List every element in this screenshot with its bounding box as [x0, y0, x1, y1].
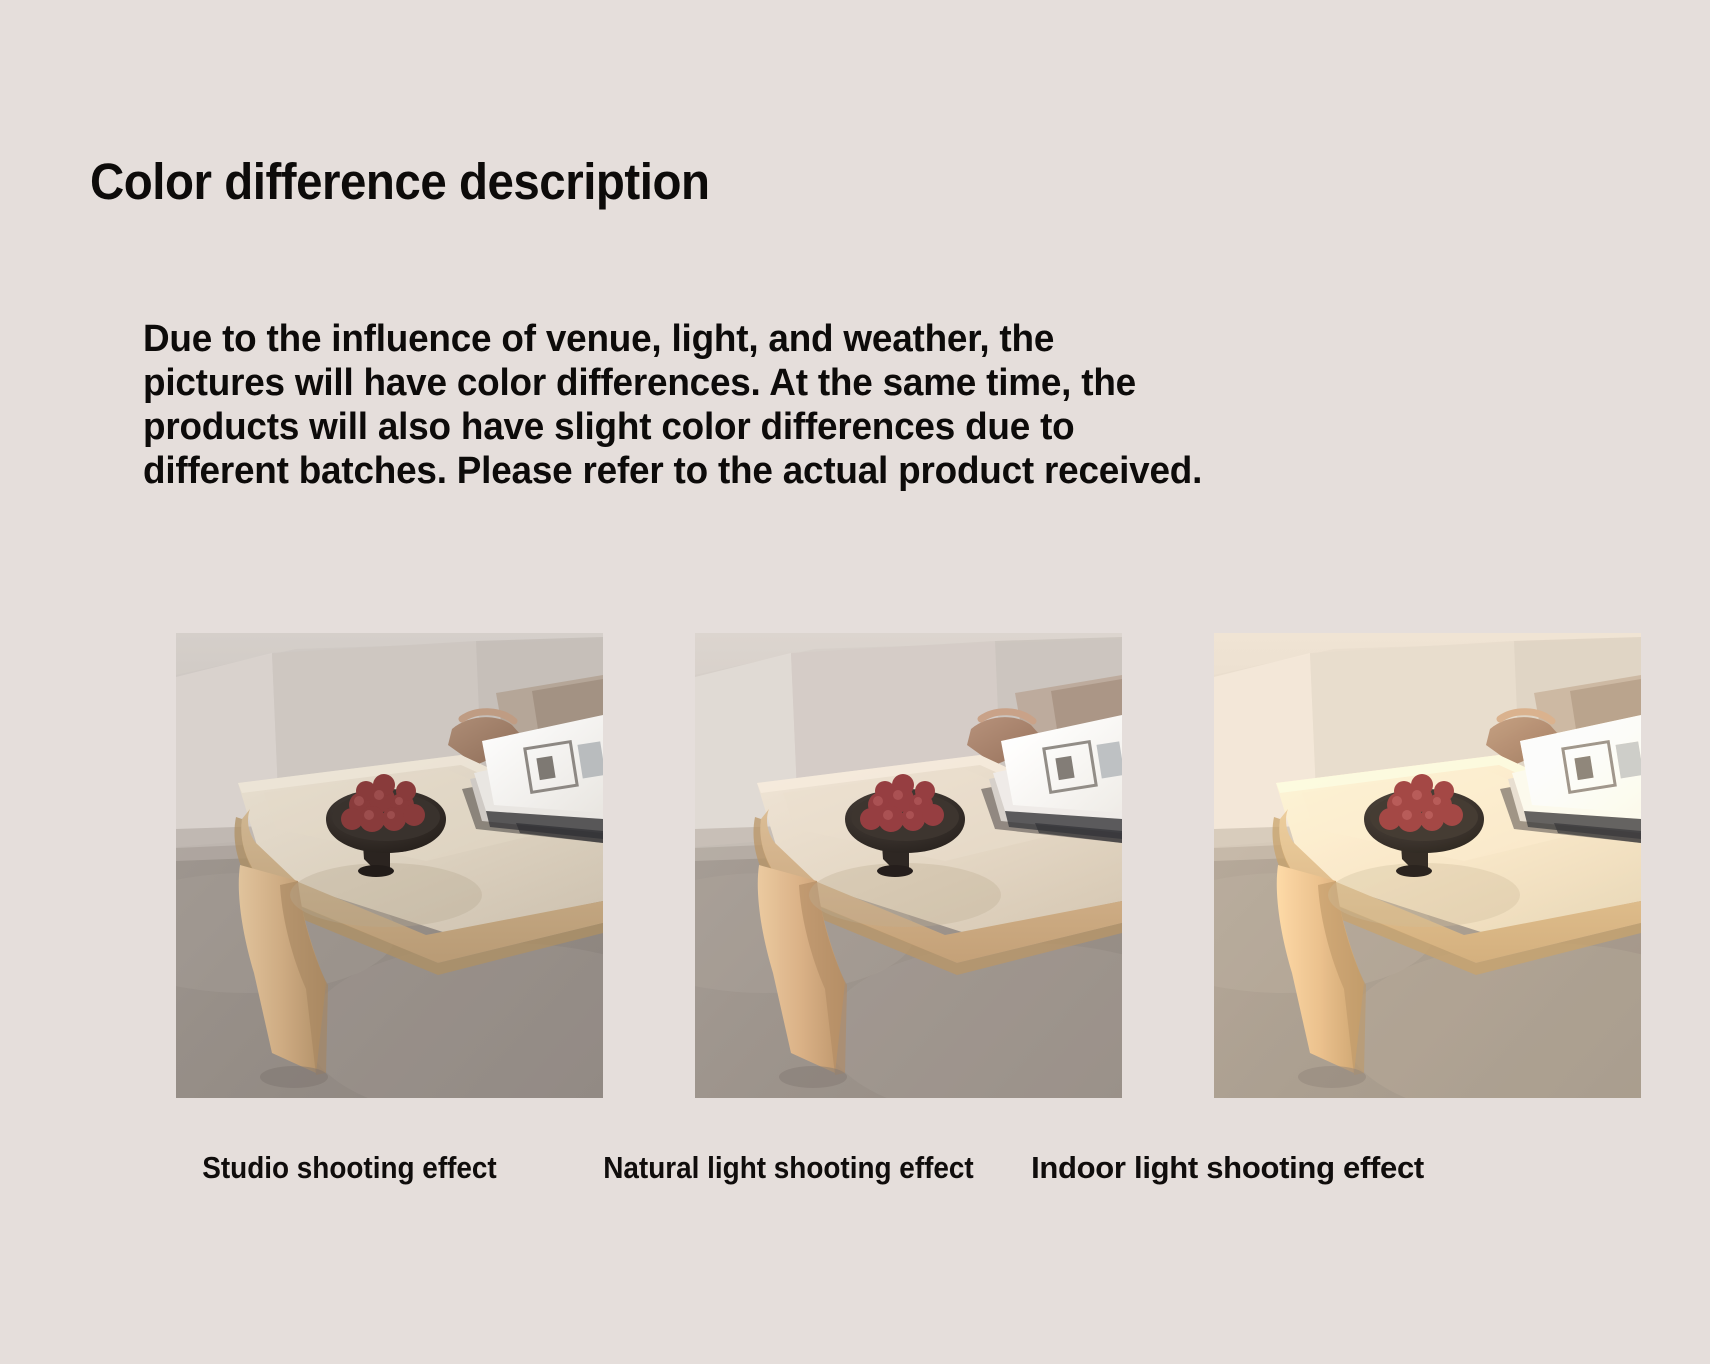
caption-studio-shooting-effect: Studio shooting effect [157, 1150, 541, 1186]
scene-illustration [695, 633, 1122, 1098]
color-difference-paragraph: Due to the influence of venue, light, an… [143, 317, 1288, 493]
gallery-item-studio [176, 633, 603, 1098]
product-photo-indoor [1214, 633, 1641, 1098]
page-title: Color difference description [90, 152, 709, 211]
gallery-item-indoor [1214, 633, 1641, 1098]
product-photo-natural [695, 633, 1122, 1098]
paragraph-line-2: pictures will have color differences. At… [143, 361, 1288, 405]
product-photo-gallery [136, 617, 1441, 1114]
gallery-captions: Studio shooting effect Natural light sho… [136, 1150, 1441, 1186]
scene-illustration [1214, 633, 1641, 1098]
gallery-item-natural [695, 633, 1122, 1098]
product-photo-studio [176, 633, 603, 1098]
scene-illustration [176, 633, 603, 1098]
paragraph-line-3: products will also have slight color dif… [143, 405, 1288, 449]
paragraph-line-1: Due to the influence of venue, light, an… [143, 317, 1288, 361]
caption-natural-light-shooting-effect: Natural light shooting effect [596, 1150, 980, 1186]
paragraph-line-4: different batches. Please refer to the a… [143, 449, 1288, 493]
caption-indoor-light-shooting-effect: Indoor light shooting effect [1014, 1150, 1441, 1186]
